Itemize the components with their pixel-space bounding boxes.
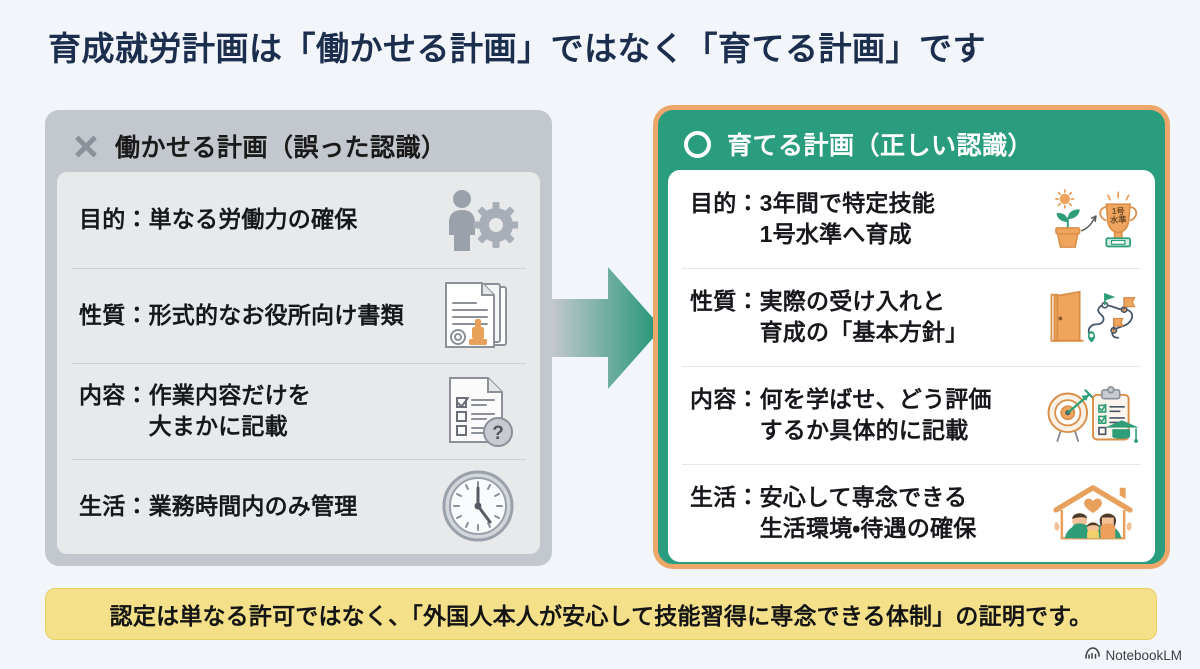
- wrong-row-purpose-text: 目的：単なる労働力の確保: [79, 204, 357, 235]
- correct-row-life-text: 生活：安心して専念できる 生活環境・待遇の確保: [690, 482, 976, 543]
- footer-brand-label: NotebookLM: [1105, 648, 1182, 663]
- wrong-row-life-text: 生活：業務時間内のみ管理: [79, 491, 357, 522]
- wrong-plan-card: 目的：単なる労働力の確保: [57, 172, 540, 554]
- wrong-row-life: 生活：業務時間内のみ管理: [57, 459, 540, 555]
- door-path-flags-icon: [1047, 278, 1139, 356]
- correct-plan-card: 目的：3年間で特定技能 1号水準へ育成: [668, 170, 1155, 562]
- target-clipboard-graduation-icon: [1047, 376, 1139, 454]
- wrong-plan-header-label: 働かせる計画（誤った認識）: [115, 128, 447, 164]
- correct-row-nature-text: 性質：実際の受け入れと 育成の「基本方針」: [690, 286, 968, 347]
- wrong-row-nature: 性質：形式的なお役所向け書類: [57, 268, 540, 364]
- correct-row-content-text: 内容：何を学ばせ、どう評価 するか具体的に記載: [690, 384, 992, 445]
- family-house-icon: [1047, 474, 1139, 552]
- page-title: 育成就労計画は「働かせる計画」ではなく「育てる計画」です: [48, 22, 1158, 70]
- correct-row-content: 内容：何を学ばせ、どう評価 するか具体的に記載: [668, 366, 1155, 464]
- correct-plan-panel: 育てる計画（正しい認識） 目的：3年間で特定技能 1号水準へ育成: [653, 105, 1170, 569]
- svg-text:?: ?: [492, 423, 504, 444]
- wrong-row-nature-text: 性質：形式的なお役所向け書類: [79, 300, 404, 331]
- wrong-plan-header: 働かせる計画（誤った認識）: [55, 120, 542, 172]
- footer-brand: NotebookLM: [1085, 647, 1182, 663]
- trophy-label-line1: 1号: [1112, 207, 1125, 216]
- correct-row-purpose-text: 目的：3年間で特定技能 1号水準へ育成: [690, 188, 935, 249]
- correct-row-purpose: 目的：3年間で特定技能 1号水準へ育成: [668, 170, 1155, 268]
- wrong-row-purpose: 目的：単なる労働力の確保: [57, 172, 540, 268]
- worker-gear-icon: [432, 181, 524, 259]
- correct-row-life: 生活：安心して専念できる 生活環境・待遇の確保: [668, 464, 1155, 562]
- correct-row-nature: 性質：実際の受け入れと 育成の「基本方針」: [668, 268, 1155, 366]
- wrong-row-content-text: 内容：作業内容だけを 大まかに記載: [79, 380, 311, 441]
- checklist-question-icon: ?: [432, 372, 524, 450]
- clock-icon: [432, 467, 524, 545]
- plant-trophy-icon: 1号 水準: [1047, 180, 1139, 258]
- x-mark-icon: [73, 133, 99, 159]
- correct-plan-header-label: 育てる計画（正しい認識）: [727, 126, 1033, 162]
- bottom-banner-text: 認定は単なる許可ではなく、「外国人本人が安心して技能習得に専念できる体制」の証明…: [110, 597, 1093, 631]
- trophy-label-line2: 水準: [1109, 215, 1126, 225]
- stamped-documents-icon: [432, 276, 524, 354]
- notebooklm-logo-icon: [1085, 647, 1100, 663]
- bottom-banner: 認定は単なる許可ではなく、「外国人本人が安心して技能習得に専念できる体制」の証明…: [45, 588, 1157, 640]
- wrong-row-content: 内容：作業内容だけを 大まかに記載: [57, 363, 540, 459]
- correct-plan-header: 育てる計画（正しい認識）: [666, 118, 1157, 170]
- flow-arrow-icon: [552, 265, 664, 391]
- circle-mark-icon: [684, 131, 711, 158]
- wrong-plan-panel: 働かせる計画（誤った認識） 目的：単なる労働力の確保: [45, 110, 552, 566]
